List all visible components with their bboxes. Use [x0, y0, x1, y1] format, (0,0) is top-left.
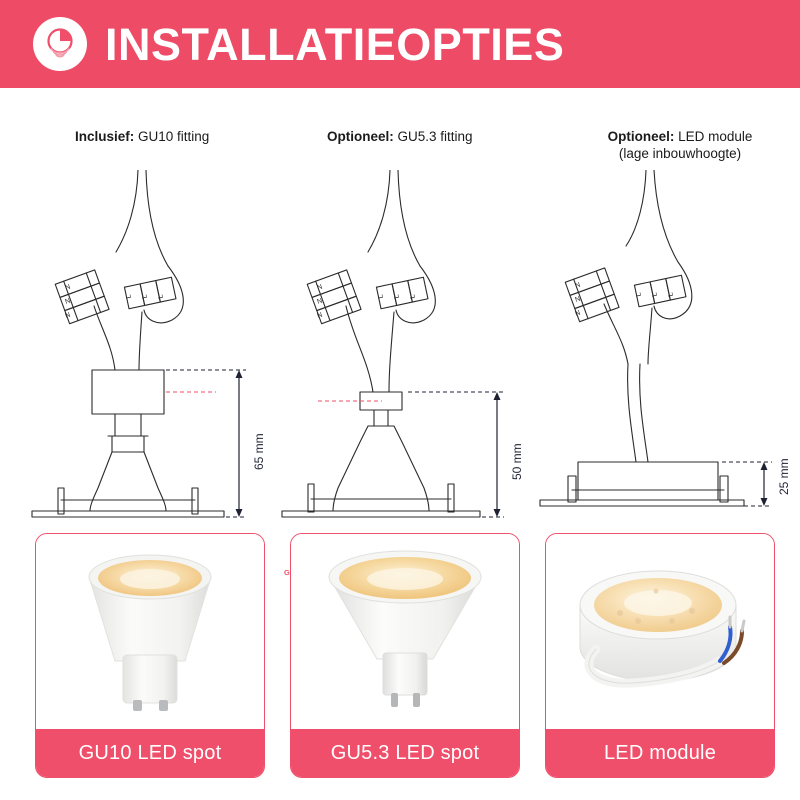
dimension-label-65mm: 65 mm	[252, 433, 266, 470]
downlight-spot-icon	[33, 17, 87, 71]
product-card-gu53[interactable]: GU5.3 LED spot	[290, 533, 520, 778]
caption-2-bold: Optioneel:	[327, 129, 394, 144]
gu10-led-lamp-photo	[36, 534, 264, 731]
caption-2-rest: GU5.3 fitting	[394, 129, 473, 144]
terminal-letter-n: N	[64, 312, 71, 320]
installation-diagrams: N N N L L L GU10 fitting 65 mm	[0, 170, 800, 520]
terminal-letter-n: N	[316, 312, 323, 320]
product-card-gu53-title: GU5.3 LED spot	[291, 729, 519, 777]
caption-column-1: Inclusief: GU10 fitting	[75, 128, 325, 145]
diagram-gu10: N N N L L L GU10 fitting 65 mm	[20, 170, 286, 520]
caption-3-rest: LED module	[674, 129, 752, 144]
product-cards: GU10 LED spot	[0, 533, 800, 783]
diagram-gu53: N N N L L L GU5.3 fitting 50 mm	[272, 170, 538, 520]
column-captions: Inclusief: GU10 fitting Optioneel: GU5.3…	[0, 128, 800, 174]
caption-3-line2: (lage inbouwhoogte)	[560, 145, 800, 162]
page-header: INSTALLATIEOPTIES	[0, 0, 800, 88]
product-card-led-module[interactable]: LED module	[545, 533, 775, 778]
terminal-letter-n: N	[316, 284, 323, 292]
caption-column-3: Optioneel: LED module (lage inbouwhoogte…	[560, 128, 800, 162]
round-led-module-photo	[546, 534, 774, 731]
caption-1-bold: Inclusief:	[75, 129, 134, 144]
dimension-label-50mm: 50 mm	[510, 443, 524, 480]
diagram-led-module: N N N L L L 25 mm	[528, 170, 794, 520]
caption-3-bold: Optioneel:	[608, 129, 675, 144]
gu53-mr16-led-lamp-photo	[291, 534, 519, 731]
page-title: INSTALLATIEOPTIES	[105, 22, 564, 67]
terminal-letter-n: N	[574, 282, 581, 290]
terminal-letter-n: N	[574, 310, 581, 318]
product-card-gu10-title: GU10 LED spot	[36, 729, 264, 777]
caption-column-2: Optioneel: GU5.3 fitting	[327, 128, 577, 145]
dimension-label-25mm: 25 mm	[777, 458, 791, 495]
product-card-gu10[interactable]: GU10 LED spot	[35, 533, 265, 778]
caption-1-rest: GU10 fitting	[134, 129, 209, 144]
terminal-letter-n: N	[64, 284, 71, 292]
product-card-led-module-title: LED module	[546, 729, 774, 777]
